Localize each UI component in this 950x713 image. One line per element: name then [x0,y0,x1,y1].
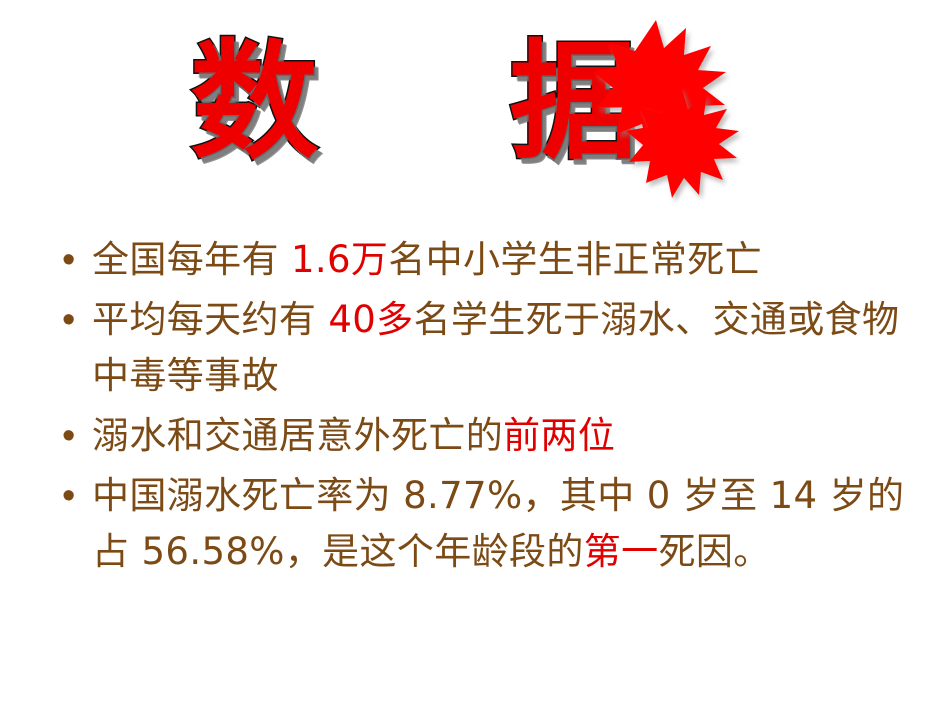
bullet-1-seg-0: 全国每年有 [92,238,291,281]
bullet-1-text: 全国每年有 1.6万名中小学生非正常死亡 [92,232,926,288]
bullet-marker-icon: • [56,408,92,464]
bullet-marker-icon: • [56,292,92,348]
bullet-3-seg-0: 溺水和交通居意外死亡的 [92,414,503,457]
page-title: 数 据 [0,28,830,178]
list-item: • 中国溺水死亡率为 8.77%，其中 0 岁至 14 岁的占 56.58%，是… [56,468,926,580]
bullet-2-seg-1-highlight: 40多 [328,298,413,341]
bullet-4-seg-1-highlight: 第一 [584,530,659,573]
bullet-4-seg-0: 中国溺水死亡率为 8.77%，其中 0 岁至 14 岁的占 56.58%，是这个… [92,474,904,573]
bullet-marker-icon: • [56,468,92,524]
bullet-3-text: 溺水和交通居意外死亡的前两位 [92,408,926,464]
list-item: • 全国每年有 1.6万名中小学生非正常死亡 [56,232,926,288]
bullet-2-text: 平均每天约有 40多名学生死于溺水、交通或食物中毒等事故 [92,292,926,404]
bullet-4-seg-2: 死因。 [659,530,771,573]
title-block: 数 据 [0,28,950,203]
bullet-2-seg-0: 平均每天约有 [92,298,328,341]
bullet-marker-icon: • [56,232,92,288]
list-item: • 溺水和交通居意外死亡的前两位 [56,408,926,464]
bullet-4-text: 中国溺水死亡率为 8.77%，其中 0 岁至 14 岁的占 56.58%，是这个… [92,468,926,580]
bullet-1-seg-1-highlight: 1.6万 [291,238,388,281]
bullet-1-seg-2: 名中小学生非正常死亡 [388,238,762,281]
bullet-list: • 全国每年有 1.6万名中小学生非正常死亡 • 平均每天约有 40多名学生死于… [56,232,926,584]
bullet-3-seg-1-highlight: 前两位 [503,414,615,457]
list-item: • 平均每天约有 40多名学生死于溺水、交通或食物中毒等事故 [56,292,926,404]
presentation-slide: 数 据 • 全国每年有 1.6万名中小学生非正常死亡 • [0,0,950,713]
